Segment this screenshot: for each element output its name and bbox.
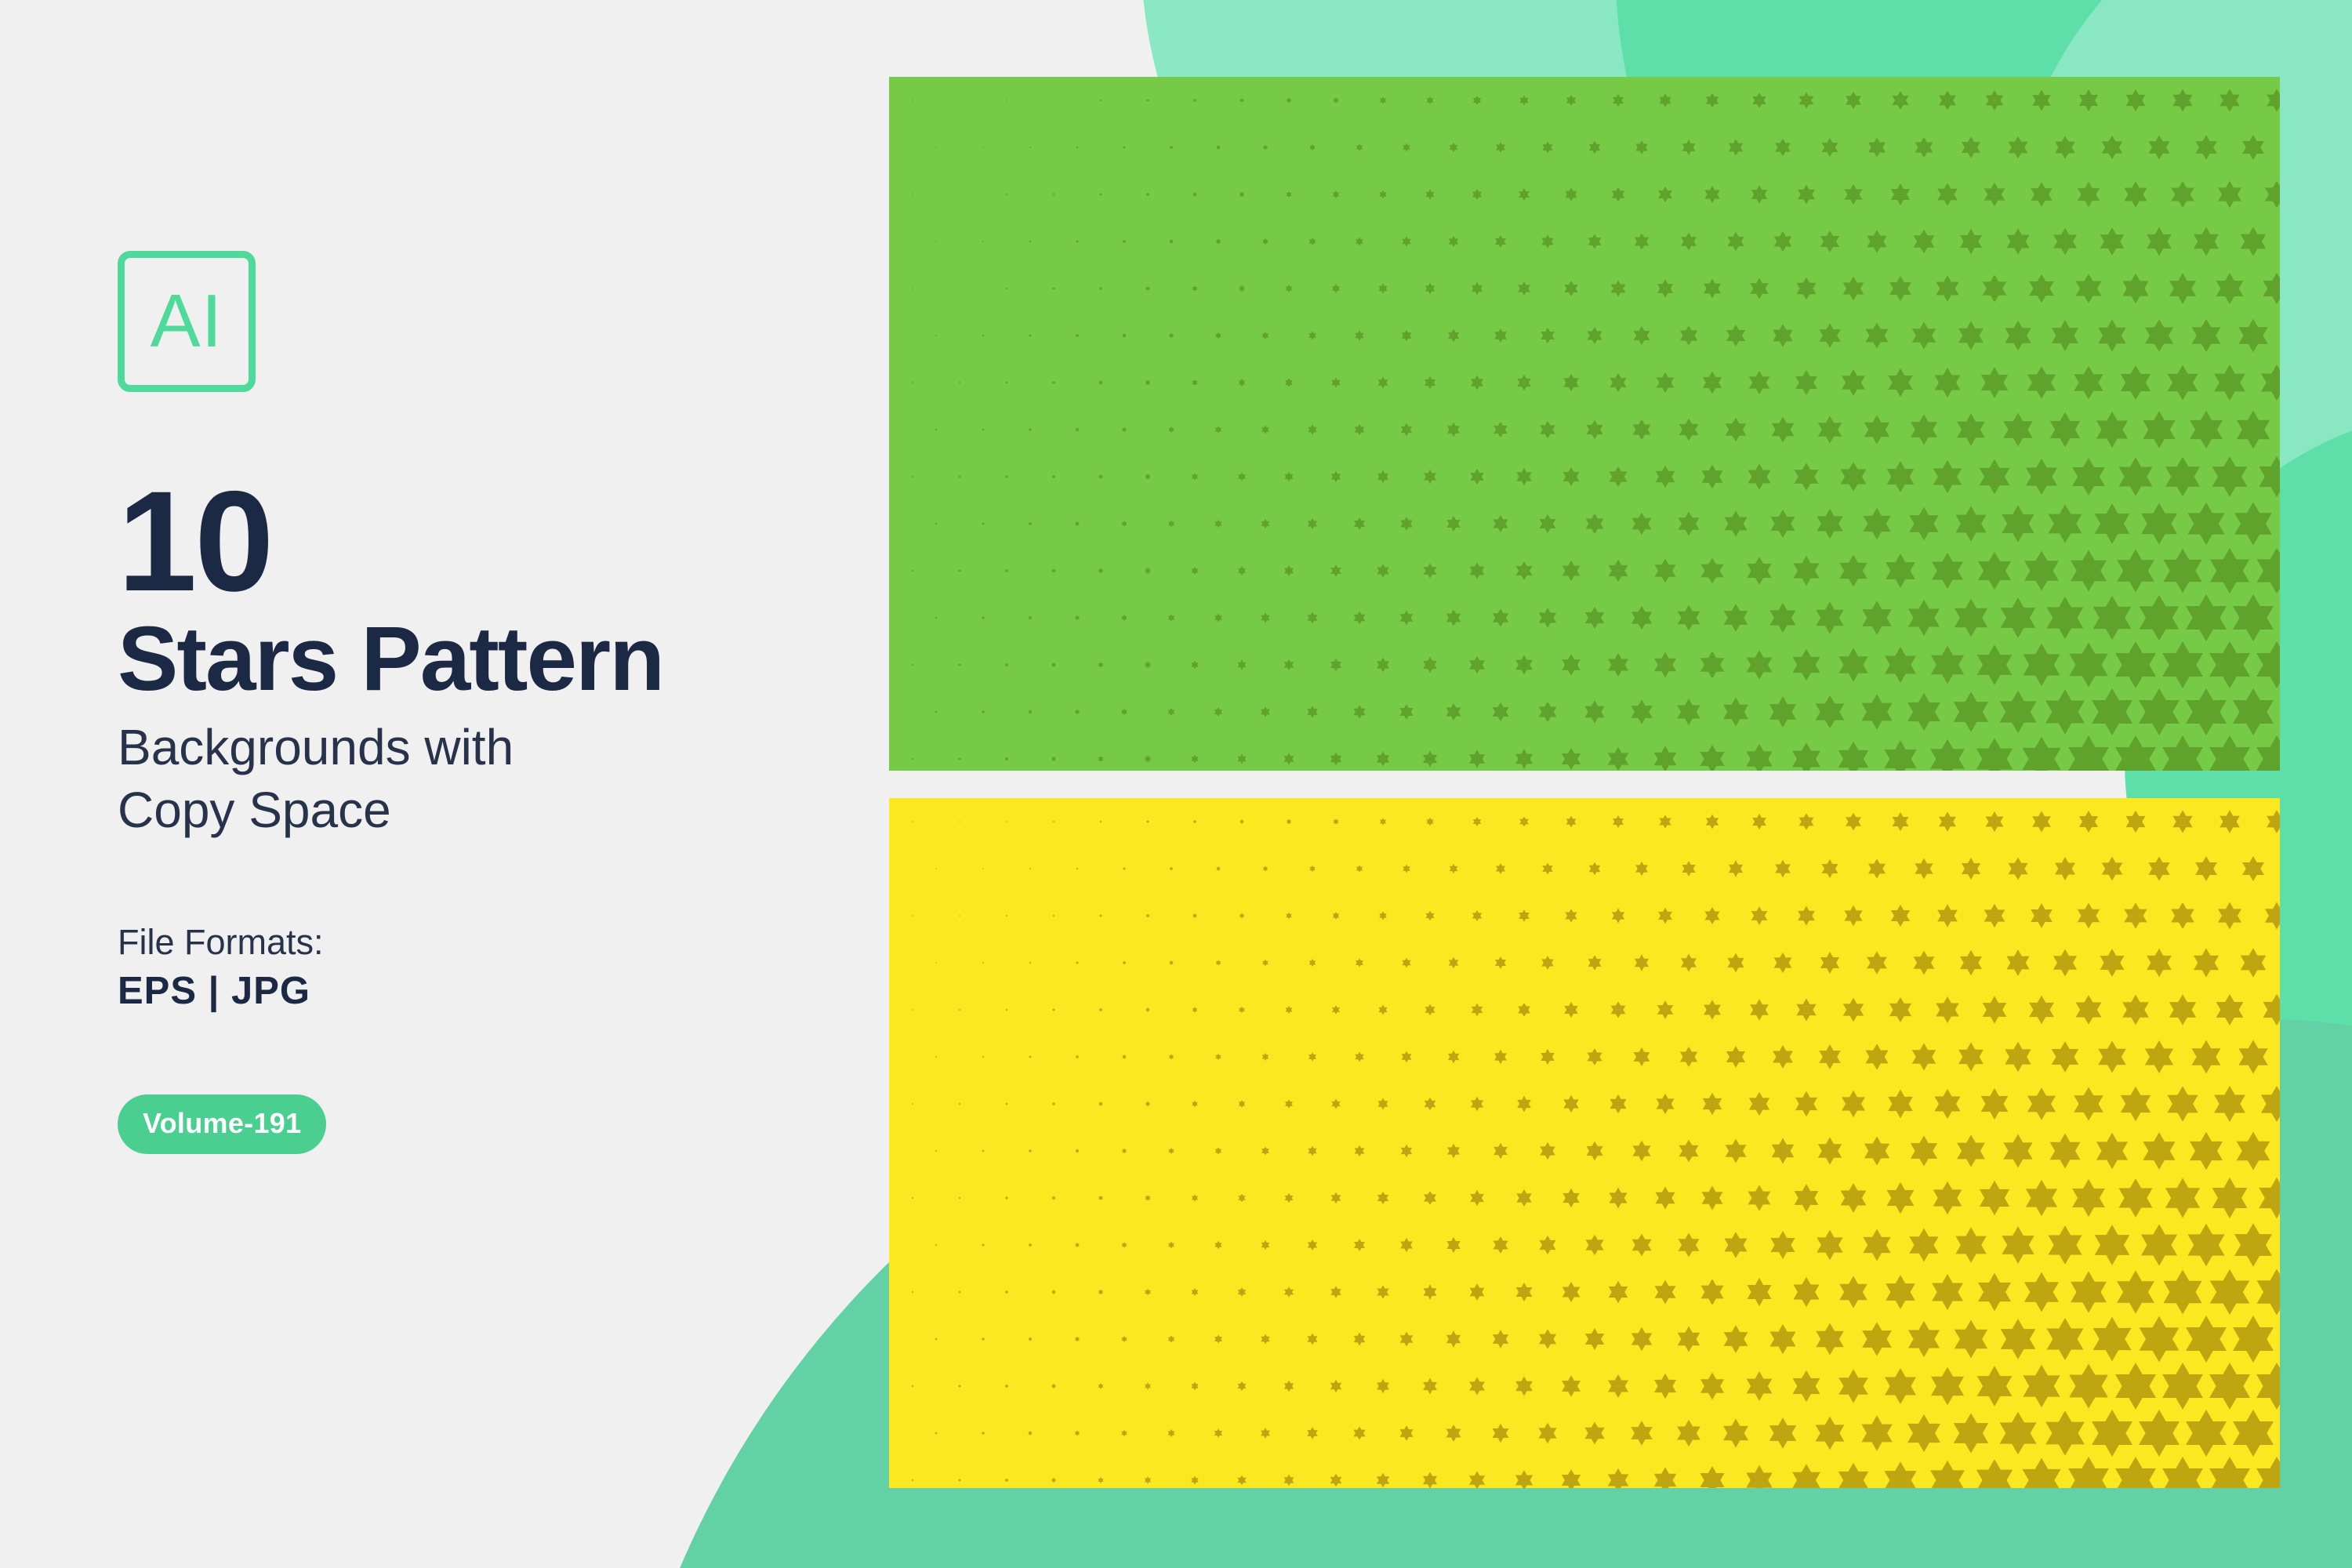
info-column: AI 10 Stars Pattern Backgrounds with Cop… xyxy=(118,251,823,1154)
file-formats-block: File Formats: EPS | JPG xyxy=(118,920,823,1016)
yellow-stars-panel xyxy=(889,798,2280,1488)
file-formats-value: EPS | JPG xyxy=(118,967,823,1015)
page-title: Stars Pattern xyxy=(118,612,823,705)
file-formats-label: File Formats: xyxy=(118,920,823,964)
page-subtitle-line-1: Backgrounds with xyxy=(118,716,823,779)
yellow-stars-pattern xyxy=(889,798,2280,1488)
item-count: 10 xyxy=(118,480,823,603)
volume-badge: Volume-191 xyxy=(118,1094,326,1154)
page-subtitle-line-2: Copy Space xyxy=(118,779,823,842)
page-subtitle: Backgrounds with Copy Space xyxy=(118,716,823,842)
green-stars-panel xyxy=(889,77,2280,771)
ai-format-badge: AI xyxy=(118,251,256,392)
green-stars-pattern xyxy=(889,77,2280,771)
ai-badge-label: AI xyxy=(151,284,223,359)
poster-canvas: AI 10 Stars Pattern Backgrounds with Cop… xyxy=(0,0,2352,1568)
